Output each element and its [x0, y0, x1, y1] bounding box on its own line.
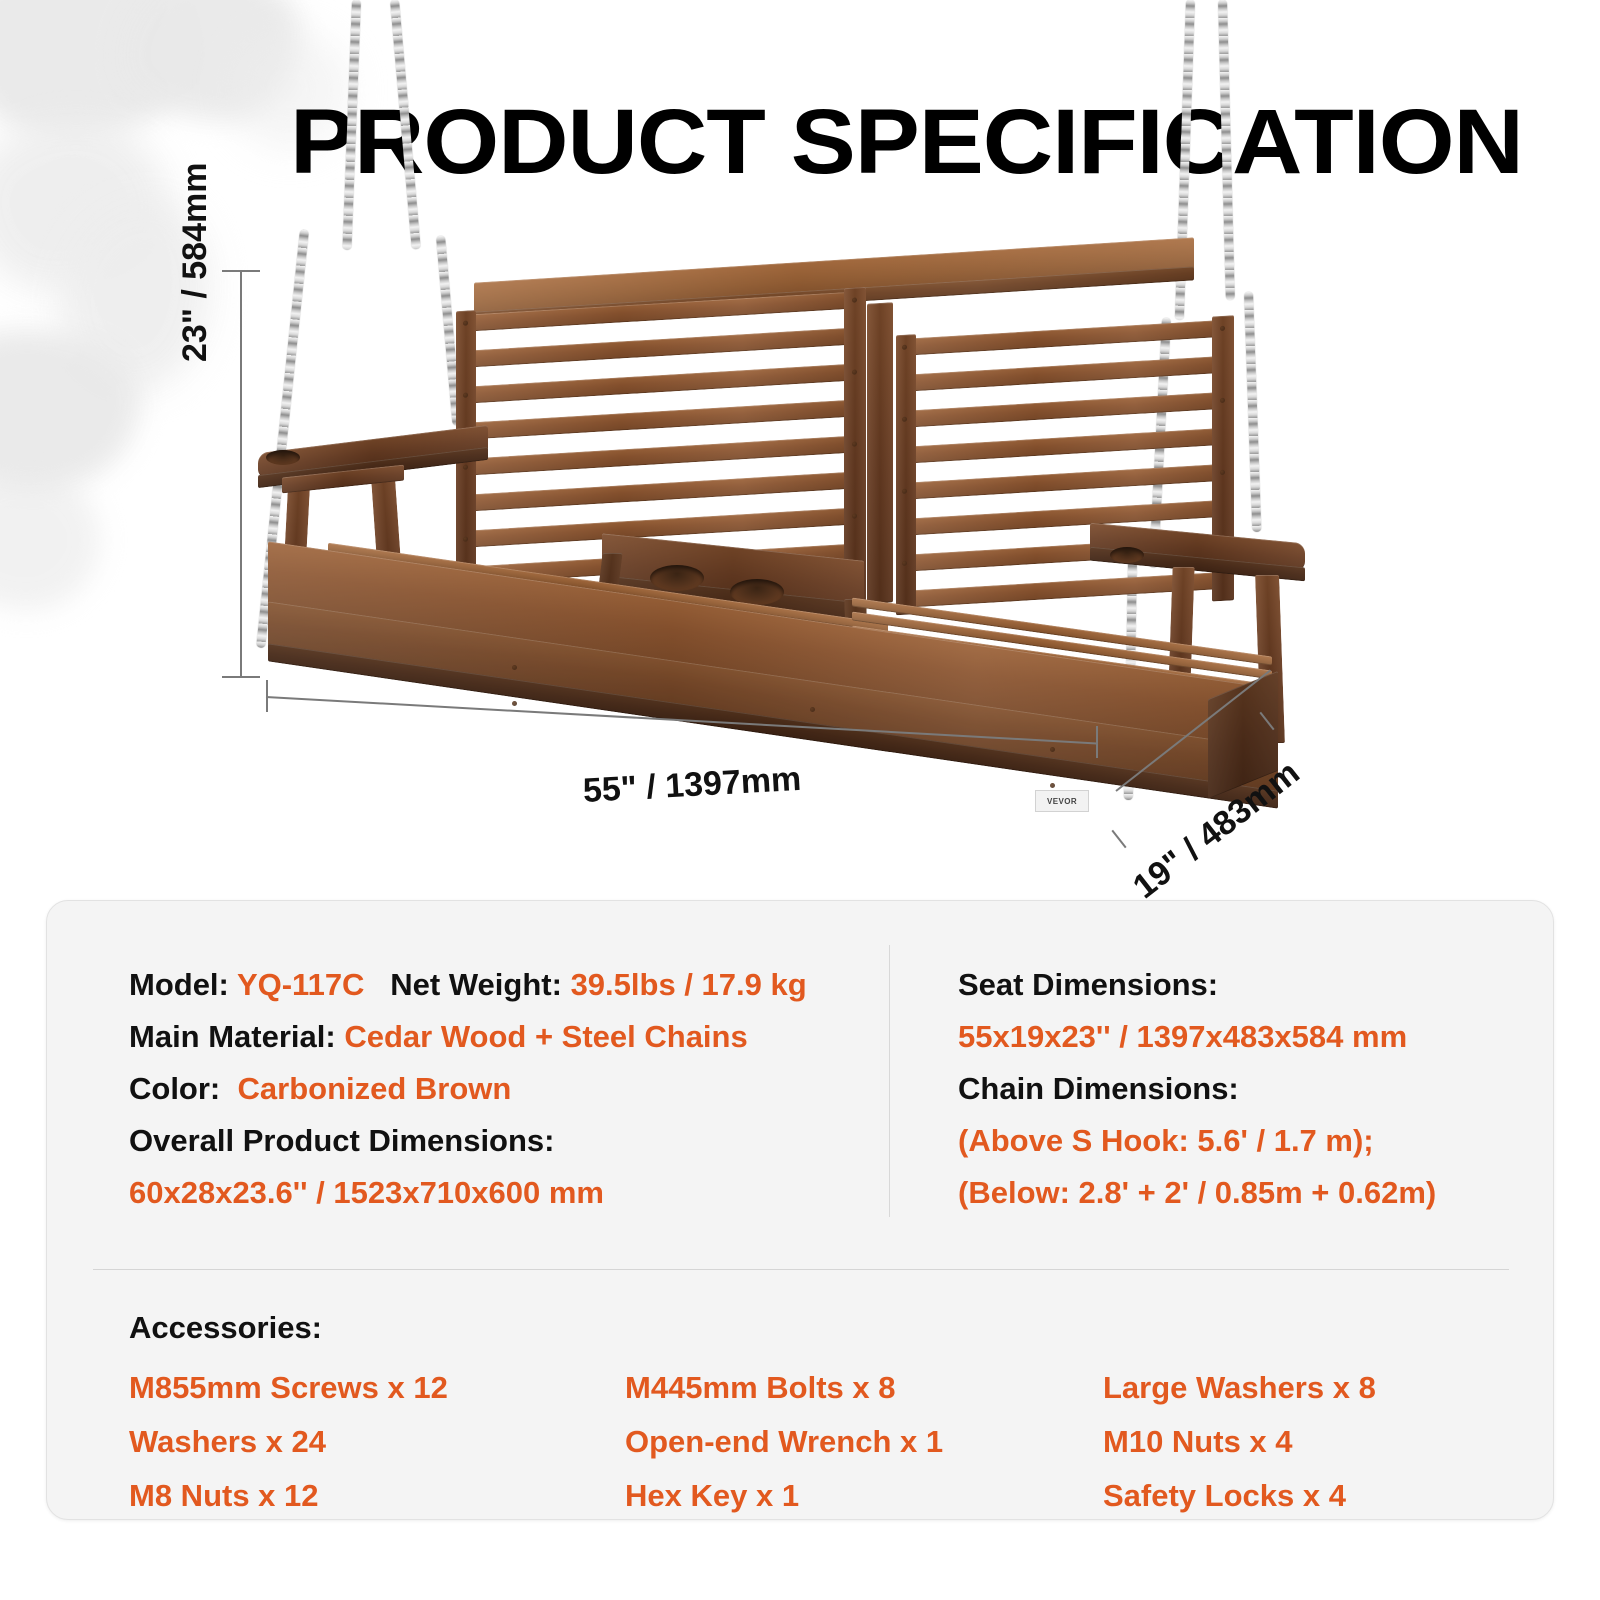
- dim-tick-width-left: [266, 680, 268, 712]
- spec-columns: Model: YQ-117C Net Weight: 39.5lbs / 17.…: [47, 901, 1553, 1269]
- spec-column-left: Model: YQ-117C Net Weight: 39.5lbs / 17.…: [47, 901, 889, 1269]
- material-value: Cedar Wood + Steel Chains: [344, 1019, 747, 1054]
- accessory-item: M8 Nuts x 12: [129, 1469, 625, 1523]
- spec-column-right: Seat Dimensions: 55x19x23'' / 1397x483x5…: [890, 901, 1553, 1269]
- spec-row-material: Main Material: Cedar Wood + Steel Chains: [129, 1011, 889, 1063]
- vevor-logo-tag: VEVOR: [1035, 790, 1089, 812]
- model-label: Model:: [129, 967, 229, 1002]
- section-divider: [93, 1269, 1509, 1270]
- porch-swing-illustration: [250, 255, 1310, 815]
- page-title: PRODUCT SPECIFICATION: [290, 96, 1361, 188]
- accessory-item: M855mm Screws x 12: [129, 1361, 625, 1415]
- accessory-item: Large Washers x 8: [1103, 1361, 1513, 1415]
- armrest-left-cup-hole: [266, 450, 300, 465]
- accessories-grid: M855mm Screws x 12 M445mm Bolts x 8 Larg…: [129, 1361, 1513, 1523]
- spec-row-model: Model: YQ-117C Net Weight: 39.5lbs / 17.…: [129, 959, 889, 1011]
- dim-tick-depth-near: [1111, 830, 1126, 849]
- seat-dimensions-label: Seat Dimensions:: [958, 959, 1553, 1011]
- accessory-item: M445mm Bolts x 8: [625, 1361, 1103, 1415]
- color-value: Carbonized Brown: [238, 1071, 512, 1106]
- material-label: Main Material:: [129, 1019, 336, 1054]
- accessories-title: Accessories:: [129, 1299, 1513, 1357]
- backrest-center-post: [867, 302, 893, 604]
- dim-label-height: 23" / 584mm: [176, 163, 215, 362]
- console-cup-hole-1: [650, 565, 704, 591]
- spec-row-overall-label: Overall Product Dimensions:: [129, 1115, 889, 1167]
- accessories-section: Accessories: M855mm Screws x 12 M445mm B…: [129, 1299, 1513, 1523]
- net-weight-label: Net Weight:: [390, 967, 562, 1002]
- chain-dimensions-above: (Above S Hook: 5.6' / 1.7 m);: [958, 1115, 1553, 1167]
- dim-tick-width-right: [1096, 726, 1098, 758]
- accessory-item: Washers x 24: [129, 1415, 625, 1469]
- dim-tick-height-top: [222, 270, 260, 272]
- net-weight-value: 39.5lbs / 17.9 kg: [571, 967, 807, 1002]
- model-value: YQ-117C: [237, 967, 365, 1002]
- dim-tick-height-bottom: [222, 676, 260, 678]
- seat-dimensions-value: 55x19x23'' / 1397x483x584 mm: [958, 1011, 1553, 1063]
- spec-row-color: Color: Carbonized Brown: [129, 1063, 889, 1115]
- specification-panel: Model: YQ-117C Net Weight: 39.5lbs / 17.…: [46, 900, 1554, 1520]
- color-label: Color:: [129, 1071, 220, 1106]
- accessory-item: Hex Key x 1: [625, 1469, 1103, 1523]
- dim-line-height: [240, 270, 242, 678]
- spec-row-overall-value: 60x28x23.6'' / 1523x710x600 mm: [129, 1167, 889, 1219]
- accessory-item: M10 Nuts x 4: [1103, 1415, 1513, 1469]
- chain-dimensions-below: (Below: 2.8' + 2' / 0.85m + 0.62m): [958, 1167, 1553, 1219]
- product-hero: PRODUCT SPECIFICATION: [0, 0, 1600, 890]
- accessory-item: Safety Locks x 4: [1103, 1469, 1513, 1523]
- chain-dimensions-label: Chain Dimensions:: [958, 1063, 1553, 1115]
- armrest-right-cup-hole: [1110, 547, 1144, 563]
- accessory-item: Open-end Wrench x 1: [625, 1415, 1103, 1469]
